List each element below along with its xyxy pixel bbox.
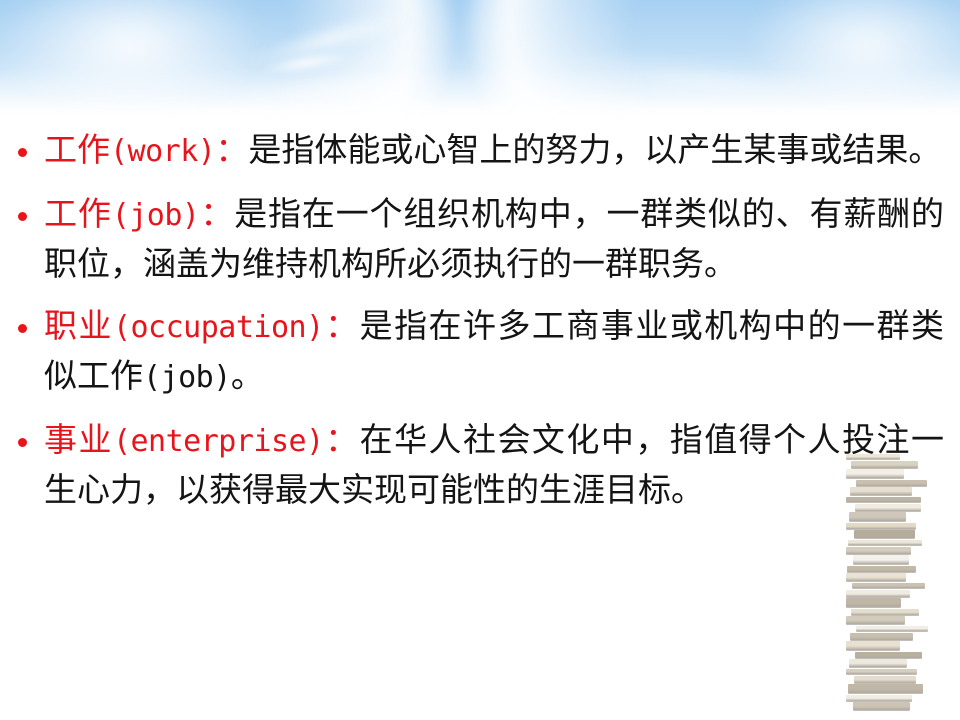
- bullet-marker-icon: [18, 148, 27, 157]
- term-chinese: 职业: [44, 306, 113, 345]
- book-in-stack: [849, 512, 906, 521]
- book-in-stack: [849, 659, 907, 667]
- term-english: (job): [112, 198, 200, 233]
- book-in-stack: [851, 609, 919, 615]
- term-colon: ：: [215, 130, 248, 169]
- bullet-item-job: 工作(job)：是指在一个组织机构中，一群类似的、有薪酬的职位，涵盖为维持机构所…: [0, 190, 960, 288]
- book-in-stack: [854, 530, 915, 538]
- term-english: (work): [110, 134, 215, 169]
- bullet-marker-icon: [18, 438, 27, 447]
- bullet-marker-icon: [18, 324, 27, 333]
- book-in-stack: [855, 652, 922, 658]
- definition-text-end: 。: [231, 356, 264, 395]
- book-in-stack: [846, 497, 921, 502]
- book-in-stack: [846, 590, 910, 597]
- book-in-stack: [853, 555, 909, 564]
- term-english: (enterprise): [113, 424, 324, 459]
- book-in-stack: [846, 469, 904, 478]
- book-in-stack: [855, 504, 921, 511]
- bullet-marker-icon: [18, 212, 27, 221]
- bullet-paragraph: 事业(enterprise)：在华人社会文化中，指值得个人投注一生心力，以获得最…: [44, 416, 944, 514]
- bullet-item-occupation: 职业(occupation)：是指在许多工商事业或机构中的一群类似工作(job)…: [0, 302, 960, 402]
- bullet-paragraph: 工作(job)：是指在一个组织机构中，一群类似的、有薪酬的职位，涵盖为维持机构所…: [44, 190, 944, 288]
- book-in-stack: [846, 523, 916, 529]
- book-in-stack: [856, 480, 927, 486]
- book-in-stack: [850, 633, 913, 640]
- book-in-stack: [848, 684, 923, 693]
- definition-text: 是指体能或心智上的努力，以产生某事或结果。: [248, 130, 941, 169]
- bullet-item-enterprise: 事业(enterprise)：在华人社会文化中，指值得个人投注一生心力，以获得最…: [0, 416, 960, 514]
- book-in-stack: [846, 454, 900, 459]
- book-in-stack: [851, 461, 918, 468]
- book-in-stack: [846, 669, 917, 674]
- book-in-stack: [846, 547, 911, 554]
- book-in-stack: [854, 676, 916, 683]
- term-english: (occupation): [113, 310, 324, 345]
- book-in-stack: [852, 583, 925, 588]
- stack-of-books-image: [846, 454, 922, 712]
- book-in-stack: [846, 598, 901, 607]
- book-in-stack: [846, 695, 912, 701]
- book-in-stack: [856, 626, 928, 631]
- book-in-stack: [853, 702, 910, 710]
- bullet-list: 工作(work)：是指体能或心智上的努力，以产生某事或结果。 工作(job)：是…: [0, 126, 960, 514]
- book-in-stack: [846, 573, 906, 581]
- term-colon: ：: [200, 194, 235, 233]
- term-chinese: 工作: [44, 130, 110, 169]
- bullet-paragraph: 工作(work)：是指体能或心智上的努力，以产生某事或结果。: [44, 126, 944, 176]
- book-in-stack: [847, 566, 916, 572]
- book-in-stack: [848, 540, 922, 545]
- definition-inline-english: (job): [143, 360, 231, 395]
- slide: 工作(work)：是指体能或心智上的努力，以产生某事或结果。 工作(job)：是…: [0, 0, 960, 720]
- term-chinese: 工作: [44, 194, 112, 233]
- book-in-stack: [846, 641, 900, 650]
- term-colon: ：: [324, 420, 360, 459]
- bullet-item-work: 工作(work)：是指体能或心智上的努力，以产生某事或结果。: [0, 126, 960, 176]
- bullet-paragraph: 职业(occupation)：是指在许多工商事业或机构中的一群类似工作(job)…: [44, 302, 944, 402]
- book-in-stack: [846, 616, 905, 624]
- book-in-stack: [850, 487, 912, 495]
- term-colon: ：: [324, 306, 360, 345]
- sky-banner-image: [0, 0, 960, 132]
- term-chinese: 事业: [44, 420, 113, 459]
